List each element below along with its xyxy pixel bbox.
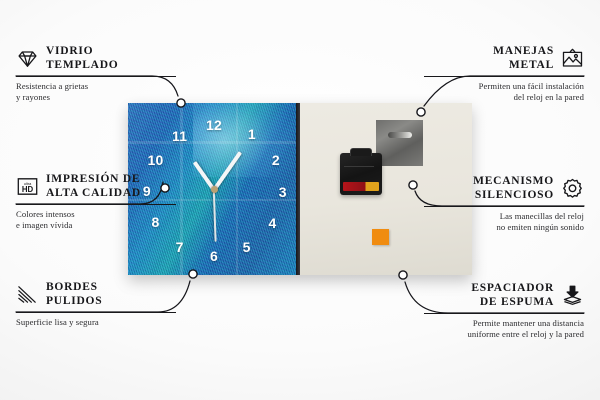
callout-title-line1: BORDES bbox=[46, 280, 102, 294]
callout-subtitle-line1: Resistencia a grietas bbox=[16, 81, 176, 92]
foam-spacer-icon bbox=[561, 284, 584, 307]
callout-vidrio-templado: VIDRIO TEMPLADO Resistencia a grietas y … bbox=[16, 44, 176, 104]
callout-divider bbox=[424, 313, 584, 314]
callout-title-line1: VIDRIO bbox=[46, 44, 118, 58]
callout-header: ESPACIADOR DE ESPUMA bbox=[424, 281, 584, 309]
callout-divider bbox=[424, 206, 584, 207]
gear-icon bbox=[561, 177, 584, 200]
callout-impresion-alta-calidad: ultra HD IMPRESIÓN DE ALTA CALIDAD Color… bbox=[16, 172, 176, 232]
clock-numeral-4: 4 bbox=[268, 215, 276, 231]
clock-numeral-5: 5 bbox=[243, 239, 251, 255]
callout-mecanismo-silencioso: MECANISMO SILENCIOSO Las manecillas del … bbox=[424, 174, 584, 234]
clock-numeral-6: 6 bbox=[210, 248, 218, 264]
callout-subtitle-line2: uniforme entre el reloj y la pared bbox=[424, 329, 584, 340]
ultra-hd-icon: ultra HD bbox=[16, 175, 39, 198]
clock-numeral-12: 12 bbox=[206, 117, 222, 133]
callout-manejas-metal: MANEJAS METAL Permiten una fácil instala… bbox=[424, 44, 584, 104]
callout-title-line1: MECANISMO bbox=[473, 174, 554, 188]
callout-title-group: VIDRIO TEMPLADO bbox=[46, 44, 118, 72]
clock-hand-cap bbox=[211, 186, 218, 193]
face-grid-line bbox=[128, 141, 300, 144]
mechanism-seam bbox=[344, 166, 374, 167]
callout-subtitle-line1: Las manecillas del reloj bbox=[424, 211, 584, 222]
battery-compartment bbox=[343, 182, 379, 191]
callout-title-group: MECANISMO SILENCIOSO bbox=[473, 174, 554, 202]
callout-title-line2: TEMPLADO bbox=[46, 58, 118, 72]
callout-title-group: BORDES PULIDOS bbox=[46, 280, 102, 308]
foam-spacer-pad bbox=[372, 229, 389, 245]
callout-subtitle-line1: Permite mantener una distancia bbox=[424, 318, 584, 329]
callout-header: MECANISMO SILENCIOSO bbox=[424, 174, 584, 202]
metal-hanger-plate bbox=[376, 120, 423, 166]
silent-mechanism-housing bbox=[340, 153, 382, 195]
callout-divider bbox=[16, 76, 176, 77]
clock-numeral-3: 3 bbox=[279, 184, 287, 200]
callout-title-line2: ALTA CALIDAD bbox=[46, 186, 141, 200]
callout-title-line2: METAL bbox=[493, 58, 554, 72]
callout-bordes-pulidos: BORDES PULIDOS Superficie lisa y segura bbox=[16, 280, 176, 328]
callout-header: MANEJAS METAL bbox=[424, 44, 584, 72]
callout-title-line2: DE ESPUMA bbox=[471, 295, 554, 309]
clock-numeral-2: 2 bbox=[272, 152, 280, 168]
callout-espaciador-espuma: ESPACIADOR DE ESPUMA Permite mantener un… bbox=[424, 281, 584, 341]
callout-title-line1: IMPRESIÓN DE bbox=[46, 172, 141, 186]
callout-title-group: ESPACIADOR DE ESPUMA bbox=[471, 281, 554, 309]
clock-numeral-7: 7 bbox=[176, 239, 184, 255]
hanger-slot bbox=[388, 132, 412, 138]
diamond-icon bbox=[16, 47, 39, 70]
face-grid-line bbox=[236, 103, 238, 275]
callout-subtitle-line1: Superficie lisa y segura bbox=[16, 317, 176, 328]
callout-title-line2: SILENCIOSO bbox=[473, 188, 554, 202]
callout-subtitle-line1: Permiten una fácil instalación bbox=[424, 81, 584, 92]
callout-divider bbox=[16, 204, 176, 205]
clock-second-hand bbox=[213, 190, 216, 242]
callout-divider bbox=[16, 312, 176, 313]
callout-subtitle-line2: y rayones bbox=[16, 92, 176, 103]
ultra-hd-icon-main-text: HD bbox=[22, 184, 34, 193]
callout-subtitle-line2: del reloj en la pared bbox=[424, 92, 584, 103]
infographic-canvas: 12 1 2 3 4 5 6 7 8 9 10 11 bbox=[0, 0, 600, 400]
callout-header: ultra HD IMPRESIÓN DE ALTA CALIDAD bbox=[16, 172, 176, 200]
callout-subtitle-line1: Colores intensos bbox=[16, 209, 176, 220]
mechanism-tab bbox=[350, 148, 372, 156]
callout-subtitle-line2: e imagen vívida bbox=[16, 220, 176, 231]
callout-header: BORDES PULIDOS bbox=[16, 280, 176, 308]
product-image: 12 1 2 3 4 5 6 7 8 9 10 11 bbox=[128, 103, 472, 275]
callout-subtitle-line2: no emiten ningún sonido bbox=[424, 222, 584, 233]
callout-title-line1: MANEJAS bbox=[493, 44, 554, 58]
clock-numeral-11: 11 bbox=[172, 128, 187, 144]
callout-title-line1: ESPACIADOR bbox=[471, 281, 554, 295]
polished-edges-icon bbox=[16, 283, 39, 306]
callout-title-group: MANEJAS METAL bbox=[493, 44, 554, 72]
callout-divider bbox=[424, 76, 584, 77]
picture-hanger-icon bbox=[561, 47, 584, 70]
callout-title-line2: PULIDOS bbox=[46, 294, 102, 308]
clock-numeral-1: 1 bbox=[248, 126, 256, 142]
clock-numeral-10: 10 bbox=[148, 152, 164, 168]
callout-header: VIDRIO TEMPLADO bbox=[16, 44, 176, 72]
callout-title-group: IMPRESIÓN DE ALTA CALIDAD bbox=[46, 172, 141, 200]
